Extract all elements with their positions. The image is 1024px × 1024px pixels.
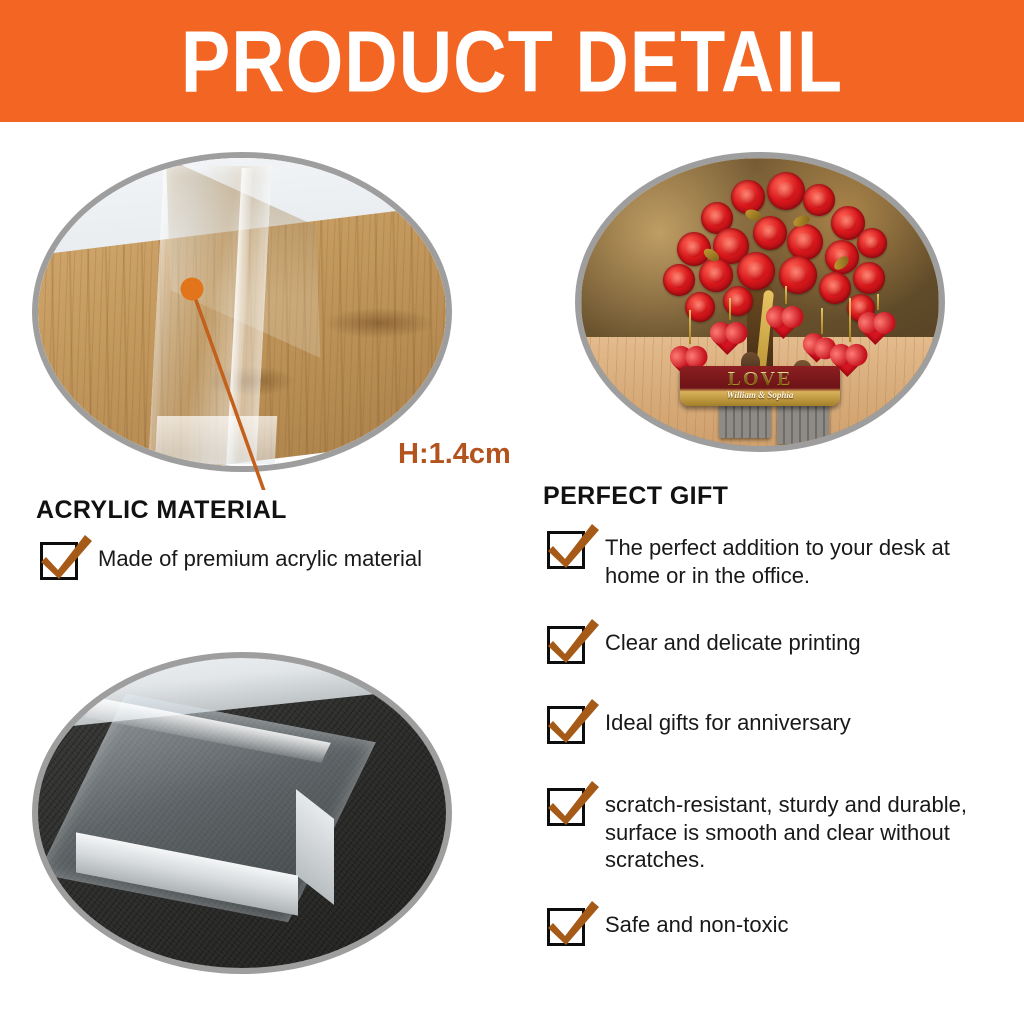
checkmark-icon: [547, 620, 587, 660]
ornament-love-label: LOVE: [680, 368, 840, 391]
feature-item: Safe and non-toxic: [547, 902, 995, 942]
ornament-names-label: William & Sophia: [680, 390, 840, 400]
heart-string: [877, 294, 879, 310]
heart-string: [689, 310, 691, 344]
rose-flower: [737, 252, 775, 290]
check-glyph: [545, 893, 601, 949]
check-glyph: [38, 527, 94, 583]
feature-text: Clear and delicate printing: [605, 620, 861, 657]
ornament-base: LOVE William & Sophia: [680, 366, 840, 406]
feature-item: Made of premium acrylic material: [40, 536, 510, 576]
rose-flower: [723, 286, 753, 316]
feature-item: Ideal gifts for anniversary: [547, 700, 995, 740]
checkmark-icon: [547, 902, 587, 942]
feature-item: The perfect addition to your desk at hom…: [547, 525, 995, 589]
feature-text: scratch-resistant, sturdy and durable, s…: [605, 782, 999, 874]
checkmark-icon: [547, 782, 587, 822]
heart-string: [821, 308, 823, 334]
feature-text: Ideal gifts for anniversary: [605, 700, 851, 737]
rose-flower: [787, 224, 823, 260]
product-photo: LOVE William & Sophia: [575, 152, 945, 452]
rose-flower: [699, 258, 733, 292]
product-photo-content: LOVE William & Sophia: [581, 158, 939, 446]
feature-text: Made of premium acrylic material: [98, 536, 422, 573]
acrylic-block-photo: [32, 652, 452, 974]
perfect-gift-heading: PERFECT GIFT: [543, 482, 728, 511]
rose-flower: [753, 216, 787, 250]
feature-item: Clear and delicate printing: [547, 620, 995, 660]
feature-item: scratch-resistant, sturdy and durable, s…: [547, 782, 999, 874]
dimension-anchor-dot: [181, 278, 204, 301]
rose-flower: [663, 264, 695, 296]
check-glyph: [545, 611, 601, 667]
heart-string: [729, 298, 731, 320]
acrylic-block-photo-content: [38, 658, 446, 968]
check-glyph: [545, 691, 601, 747]
heart-string: [849, 298, 851, 342]
checkmark-icon: [547, 525, 587, 565]
feature-text: Safe and non-toxic: [605, 902, 788, 939]
check-glyph: [545, 516, 601, 572]
heart-string: [785, 286, 787, 304]
rose-flower: [767, 172, 805, 210]
rose-flower: [857, 228, 887, 258]
rose-flower: [803, 184, 835, 216]
page-title: PRODUCT DETAIL: [0, 0, 1024, 133]
dimension-label: H:1.4cm: [398, 438, 511, 471]
header-banner: PRODUCT DETAIL: [0, 0, 1024, 122]
rose-flower: [853, 262, 885, 294]
acrylic-material-heading: ACRYLIC MATERIAL: [36, 496, 287, 525]
rose-flower: [819, 272, 851, 304]
checkmark-icon: [40, 536, 80, 576]
check-glyph: [545, 773, 601, 829]
checkmark-icon: [547, 700, 587, 740]
feature-text: The perfect addition to your desk at hom…: [605, 525, 995, 589]
